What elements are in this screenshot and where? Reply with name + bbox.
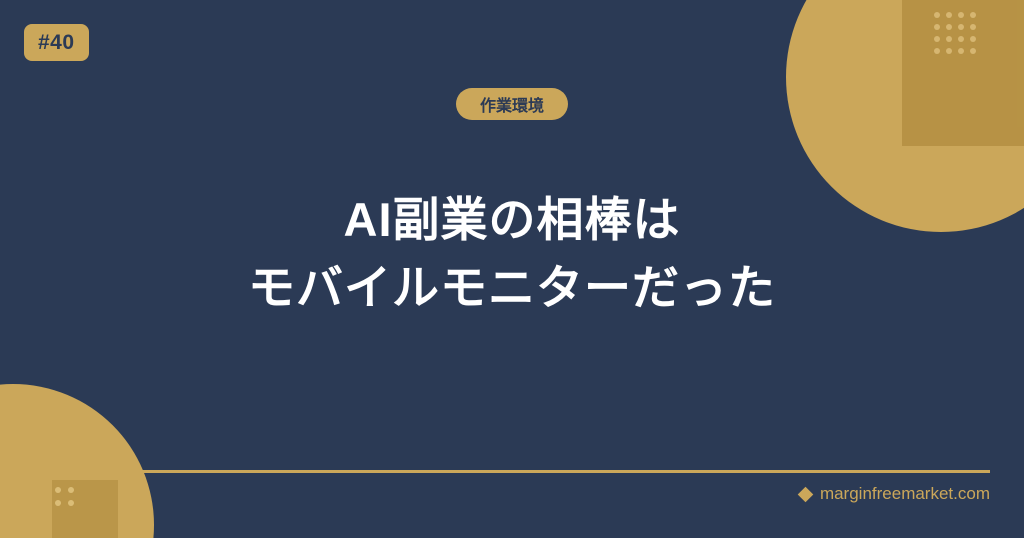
episode-number-badge: #40 <box>24 24 89 61</box>
dot <box>68 487 74 493</box>
dot <box>934 12 940 18</box>
diamond-icon <box>798 486 814 502</box>
decorative-circle-bottom-left <box>0 384 154 538</box>
dot <box>970 48 976 54</box>
dot <box>934 36 940 42</box>
blog-title-card: #40 作業環境 AI副業の相棒は モバイルモニターだった marginfree… <box>0 0 1024 538</box>
site-url-label: marginfreemarket.com <box>820 484 990 504</box>
title-line-2: モバイルモニターだった <box>0 254 1024 322</box>
page-title: AI副業の相棒は モバイルモニターだった <box>0 186 1024 322</box>
title-line-1: AI副業の相棒は <box>0 186 1024 254</box>
dot <box>958 48 964 54</box>
dot <box>55 487 61 493</box>
dot <box>970 24 976 30</box>
footer-divider <box>34 470 990 473</box>
dot <box>55 500 61 506</box>
dot <box>946 24 952 30</box>
dot <box>946 48 952 54</box>
dot <box>958 24 964 30</box>
dot <box>970 36 976 42</box>
category-badge: 作業環境 <box>456 88 568 120</box>
dot-grid-icon-bottom-left <box>55 487 74 506</box>
dot <box>934 24 940 30</box>
decorative-rectangle-bottom-left <box>52 480 118 538</box>
dot <box>958 12 964 18</box>
dot-grid-icon-top-right <box>934 12 976 54</box>
dot <box>68 500 74 506</box>
decorative-rectangle-top-right <box>902 0 1024 146</box>
dot <box>946 36 952 42</box>
dot <box>946 12 952 18</box>
footer-branding: marginfreemarket.com <box>800 484 990 504</box>
dot <box>970 12 976 18</box>
dot <box>958 36 964 42</box>
dot <box>934 48 940 54</box>
